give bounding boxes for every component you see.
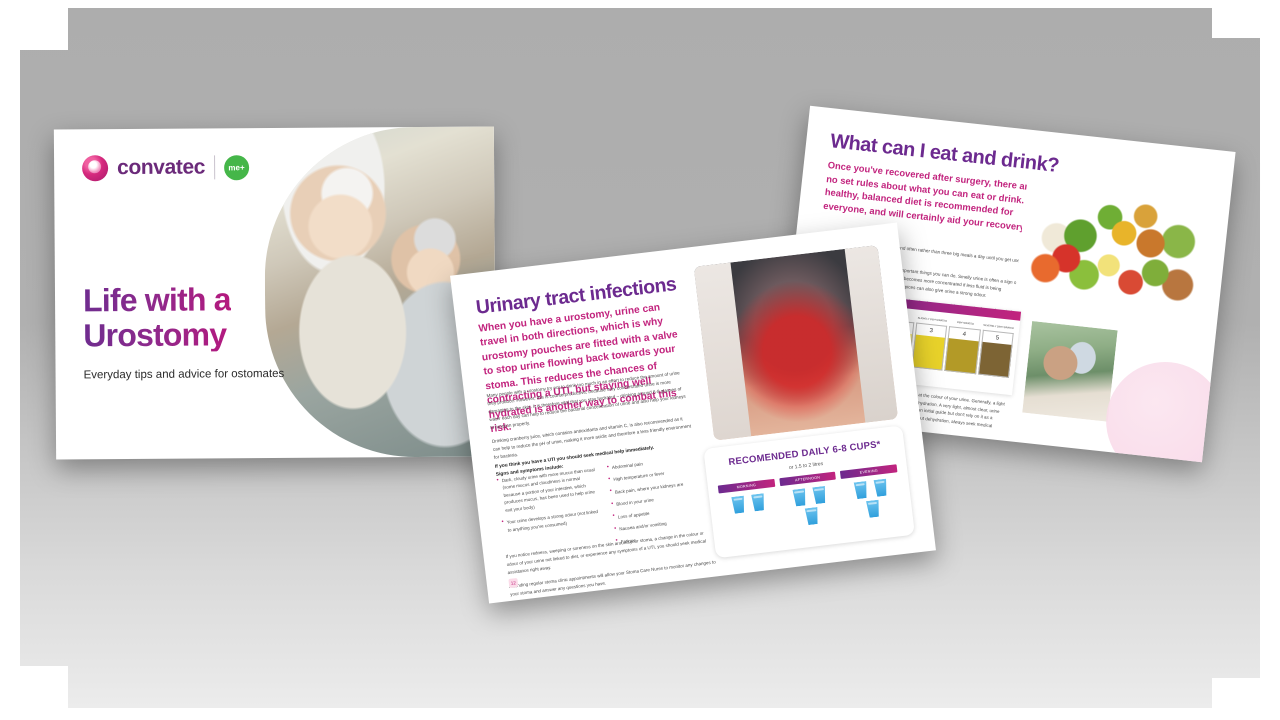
bullet-icon: • [606,464,609,472]
cover-subtitle: Everyday tips and advice for ostomates [84,368,285,381]
uti-photo [694,245,898,441]
cover-page[interactable]: convatec me+ Life with a Urostomy Everyd… [54,126,496,459]
logo-divider [214,155,215,179]
backdrop-notch-bottom-left [20,666,68,708]
swatch-5: SEVERELY DEHYDRATED 5 [978,322,1015,378]
swatch-color [978,342,1013,378]
bullet-icon: • [501,519,505,534]
water-cup-icon [730,495,747,514]
infographic-group-afternoon: AFTERNOON [779,472,841,528]
group-label: AFTERNOON [779,472,836,487]
infographic-group-morning: MORNING [718,479,780,535]
me-plus-badge: me+ [224,155,249,180]
group-label: MORNING [718,479,775,494]
cup-row [783,504,841,528]
convatec-logo: convatec me+ [82,154,249,181]
brand-name: convatec [117,155,205,180]
drinking-photo [1022,321,1117,422]
backdrop-notch-top-left [20,8,68,50]
scene-root: convatec me+ Life with a Urostomy Everyd… [0,0,1280,720]
water-cup-icon [791,488,808,507]
bullet-icon: • [612,513,615,521]
cup-row [844,497,902,521]
water-cup-icon [811,486,828,505]
group-label: EVENING [840,464,897,479]
cup-row [719,492,777,516]
page-title: Life with a Urostomy [83,282,231,352]
water-cup-icon [853,481,870,500]
water-cup-icon [804,507,821,526]
infographic-group-evening: EVENING [840,464,902,520]
water-cup-icon [750,493,767,512]
bullet-icon: • [611,501,614,509]
backdrop-notch-bottom-right [1212,678,1260,708]
water-cup-icon [872,478,889,497]
swatch-color [911,334,946,370]
bullet-icon: • [614,526,617,534]
hydration-infographic: RECOMENDED DAILY 6-8 CUPS* or 1.5 to 2 l… [703,425,915,558]
title-line-1: Life with a [83,282,231,318]
uti-page[interactable]: Urinary tract infections When you have a… [450,223,936,604]
bullet-icon: • [609,489,612,497]
backdrop-notch-top-right [1212,8,1260,38]
convatec-swirl-icon [82,155,108,181]
food-photo [1014,182,1222,322]
swatch-color [945,338,980,374]
page-number-badge: 12 [508,578,518,588]
swatch-3: SLIGHTLY DEHYDRATED 3 [911,315,948,371]
swatch-4: DEHYDRATED 4 [945,318,982,374]
bullet-icon: • [608,476,611,484]
water-cup-icon [865,499,882,518]
title-line-2: Urostomy [83,317,231,353]
